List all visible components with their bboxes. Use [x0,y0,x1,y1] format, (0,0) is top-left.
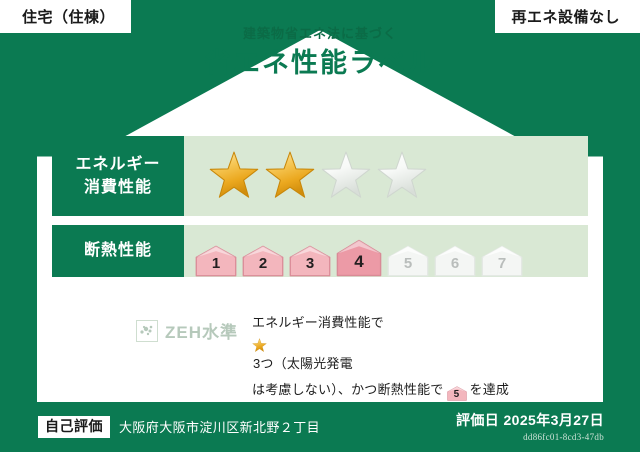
label-id: dd86fc01-8cd3-47db [456,432,604,442]
renewable-energy-tag-label: 再エネ設備なし [511,6,620,27]
insulation-grade-number: 5 [404,256,412,277]
energy-performance-label: エネルギー 消費性能 [52,136,184,216]
energy-performance-label-line2: 消費性能 [84,176,152,199]
zeh-block: ZEH水準 エネルギー消費性能で3つ（太陽光発電は考慮しない）、かつ断熱性能で5… [52,306,588,401]
self-evaluation-badge: 自己評価 [38,416,110,438]
insulation-grade-1: 1 [195,245,237,277]
insulation-performance-row: 断熱性能 1234567 [52,225,588,277]
zeh-desc-part2: は考慮しない）、かつ断熱性能で [252,382,444,397]
insulation-grade-5: 5 [387,245,429,277]
insulation-grade-3: 3 [289,245,331,277]
energy-performance-value [184,136,588,216]
insulation-performance-label-line1: 断熱性能 [84,239,152,262]
insulation-grade-number: 1 [212,256,220,277]
insulation-grade-number: 3 [306,256,314,277]
building-type-tag: 住宅（住棟） [0,0,131,33]
insulation-grade-4: 4 [336,239,382,277]
insulation-grade-scale: 1234567 [184,225,523,277]
zeh-description: エネルギー消費性能で3つ（太陽光発電は考慮しない）、かつ断熱性能で5を達成 [252,306,588,401]
zeh-desc-part3: を達成 [470,382,510,397]
insulation-performance-value: 1234567 [184,225,588,277]
insulation-grade-number: 2 [259,256,267,277]
page-title: 省エネ性能ラベル [0,46,640,81]
energy-performance-label: 住宅（住棟） 再エネ設備なし 建築物省エネ法に基づく 省エネ性能ラベル エネルギ… [0,0,640,452]
insulation-grade-2: 2 [242,245,284,277]
zeh-desc-part1: エネルギー消費性能で [252,315,384,330]
performance-rows: エネルギー 消費性能 断熱性能 1234567 [52,136,588,286]
star-empty-icon [320,150,372,202]
renewable-energy-tag: 再エネ設備なし [495,0,640,33]
footer-left: 自己評価 大阪府大阪市淀川区新北野２丁目 [38,416,320,438]
zeh-desc-star-count: 3つ（太陽光発電 [253,356,353,371]
star-filled-icon [208,150,260,202]
inline-star-icon [252,338,588,353]
zeh-label: ZEH水準 [165,318,238,343]
insulation-grade-6: 6 [434,245,476,277]
insulation-grade-number: 4 [354,253,363,277]
evaluation-date: 評価日 2025年3月27日 [456,410,604,430]
star-filled-icon [264,150,316,202]
title-block: 建築物省エネ法に基づく 省エネ性能ラベル [0,26,640,81]
energy-performance-row: エネルギー 消費性能 [52,136,588,216]
star-rating [184,150,428,202]
zeh-badge: ZEH水準 [136,306,238,343]
building-type-tag-label: 住宅（住棟） [22,6,115,27]
inline-grade-badge: 5 [447,386,467,401]
footer-right: 評価日 2025年3月27日 dd86fc01-8cd3-47db [456,410,604,442]
inline-grade-number: 5 [447,386,467,403]
insulation-grade-7: 7 [481,245,523,277]
insulation-performance-label: 断熱性能 [52,225,184,277]
energy-performance-label-line1: エネルギー [75,153,160,176]
star-empty-icon [376,150,428,202]
footer: 自己評価 大阪府大阪市淀川区新北野２丁目 評価日 2025年3月27日 dd86… [0,402,640,452]
insulation-grade-number: 7 [498,256,506,277]
insulation-grade-number: 6 [451,256,459,277]
zeh-sparkle-icon [136,320,158,342]
property-address: 大阪府大阪市淀川区新北野２丁目 [119,417,320,436]
